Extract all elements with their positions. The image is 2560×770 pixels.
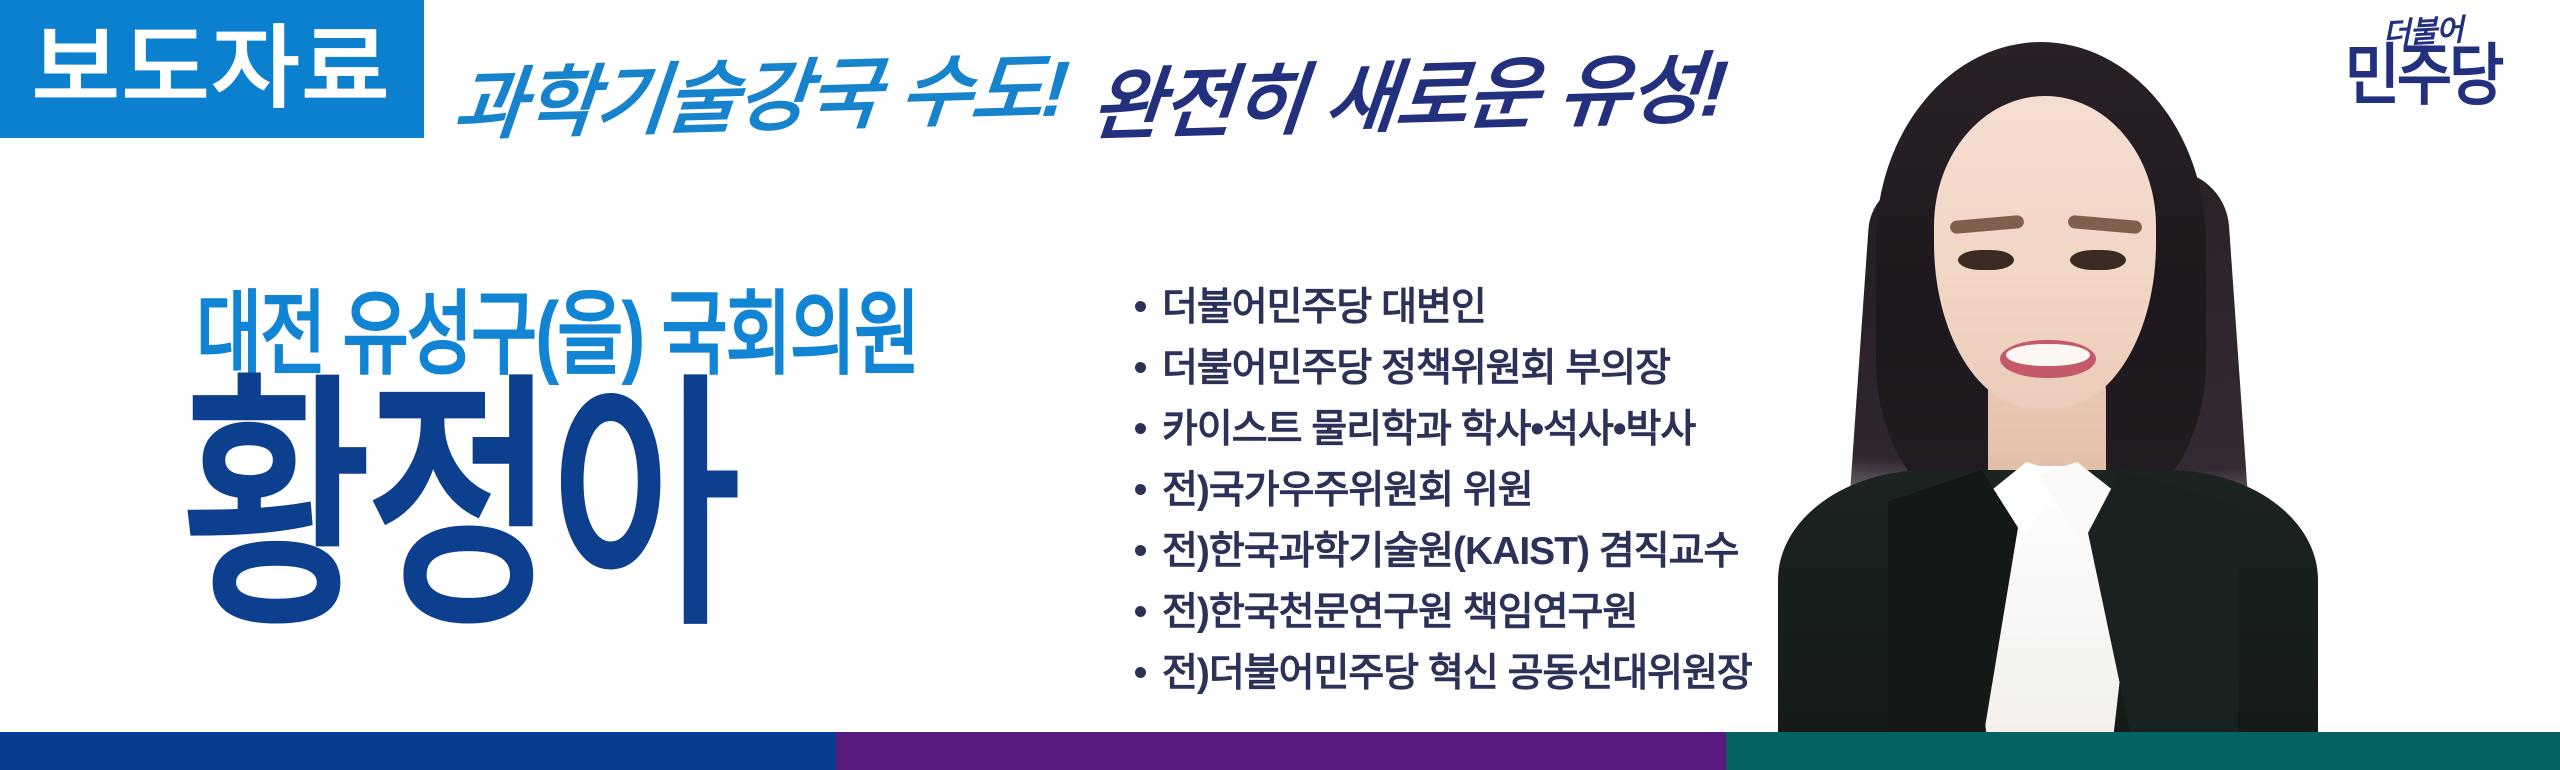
bullet-dot-icon	[1135, 667, 1146, 678]
bullet-dot-icon	[1135, 484, 1146, 495]
candidate-portrait-photo	[1738, 0, 2358, 732]
portrait-teeth	[2006, 344, 2090, 366]
bottom-color-bar	[0, 732, 2560, 770]
press-release-badge-label: 보도자료	[32, 24, 392, 114]
bar-segment-teal	[1726, 732, 2560, 770]
bio-item-label: 전)더불어민주당 혁신 공동선대위원장	[1162, 654, 1752, 693]
bullet-dot-icon	[1135, 301, 1146, 312]
candidate-bio-list: 더불어민주당 대변인 더불어민주당 정책위원회 부의장 카이스트 물리학과 학사…	[1135, 288, 1752, 715]
bio-item-label: 전)한국과학기술원(KAIST) 겸직교수	[1162, 532, 1738, 571]
slogan-part-b: 완전히 새로운 유성!	[1088, 49, 1730, 145]
bullet-dot-icon	[1135, 606, 1146, 617]
bar-segment-purple	[836, 732, 1726, 770]
bio-item: 더불어민주당 대변인	[1135, 288, 1752, 327]
press-release-badge: 보도자료	[0, 0, 424, 138]
slogan-part-a: 과학기술강국 수도!	[450, 49, 1071, 144]
bio-item: 전)더불어민주당 혁신 공동선대위원장	[1135, 654, 1752, 693]
bar-segment-navy	[0, 732, 836, 770]
bio-item: 카이스트 물리학과 학사•석사•박사	[1135, 410, 1752, 449]
bio-item-label: 카이스트 물리학과 학사•석사•박사	[1162, 410, 1695, 449]
campaign-slogan: 과학기술강국 수도!완전히 새로운 유성!	[455, 58, 1775, 168]
bio-item: 전)국가우주위원회 위원	[1135, 471, 1752, 510]
portrait-mouth	[2000, 340, 2096, 378]
portrait-eye-right	[2070, 250, 2126, 270]
bio-item: 더불어민주당 정책위원회 부의장	[1135, 349, 1752, 388]
bio-item: 전)한국천문연구원 책임연구원	[1135, 593, 1752, 632]
bio-item-label: 전)국가우주위원회 위원	[1162, 471, 1533, 510]
press-release-banner: 보도자료 과학기술강국 수도!완전히 새로운 유성! 대전 유성구(을) 국회의…	[0, 0, 2560, 770]
bio-item-label: 더불어민주당 대변인	[1162, 288, 1486, 327]
bullet-dot-icon	[1135, 545, 1146, 556]
bullet-dot-icon	[1135, 423, 1146, 434]
candidate-name: 황정아	[182, 374, 736, 641]
bio-item-label: 전)한국천문연구원 책임연구원	[1162, 593, 1637, 632]
portrait-eye-left	[1958, 250, 2014, 270]
bullet-dot-icon	[1135, 362, 1146, 373]
bio-item: 전)한국과학기술원(KAIST) 겸직교수	[1135, 532, 1752, 571]
bio-item-label: 더불어민주당 정책위원회 부의장	[1162, 349, 1670, 388]
